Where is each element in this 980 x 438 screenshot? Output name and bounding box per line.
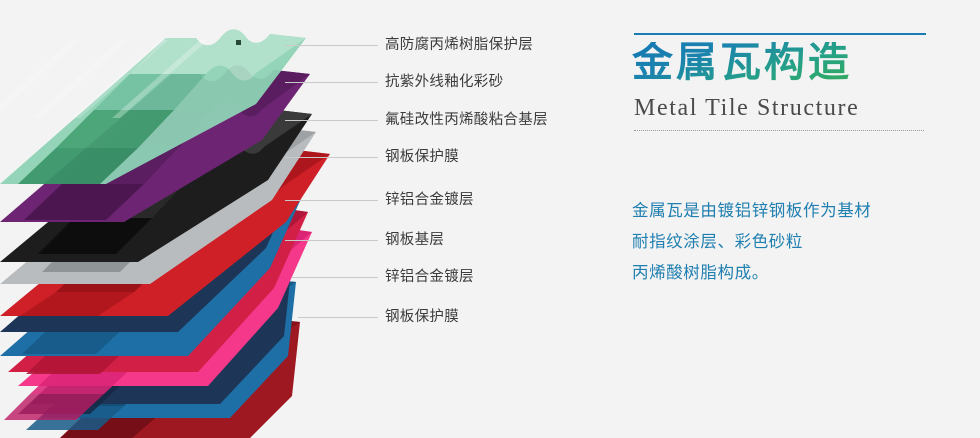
- leader-line-4: [285, 157, 378, 158]
- callout-label-1: 高防腐丙烯树脂保护层: [385, 38, 533, 53]
- description-paragraph: 金属瓦是由镀铝锌钢板作为基材 耐指纹涂层、彩色砂粒 丙烯酸树脂构成。: [632, 196, 962, 289]
- callout-label-3: 氟硅改性丙烯酸粘合基层: [385, 113, 548, 128]
- description-line-1: 金属瓦是由镀铝锌钢板作为基材: [632, 196, 962, 227]
- leader-line-1: [285, 45, 378, 46]
- metal-tile-illustration: [0, 0, 400, 438]
- callout-label-4: 钢板保护膜: [385, 150, 459, 165]
- tile-stack-svg: [0, 0, 400, 438]
- leader-line-3: [285, 120, 378, 121]
- title-dotted-rule: [634, 130, 924, 131]
- callout-label-2: 抗紫外线釉化彩砂: [385, 75, 503, 90]
- callout-label-5: 锌铝合金镀层: [385, 193, 474, 208]
- leader-line-8: [298, 317, 378, 318]
- title-top-rule: [634, 33, 926, 35]
- leader-line-2: [285, 82, 378, 83]
- page-title: 金属瓦构造: [632, 42, 852, 83]
- callout-label-6: 钢板基层: [385, 233, 444, 248]
- leader-line-5: [285, 200, 378, 201]
- description-line-2: 耐指纹涂层、彩色砂粒: [632, 227, 962, 258]
- text-panel: 金属瓦构造 Metal Tile Structure 金属瓦是由镀铝锌钢板作为基…: [632, 0, 962, 438]
- callout-label-7: 锌铝合金镀层: [385, 270, 474, 285]
- poster-canvas: 高防腐丙烯树脂保护层 抗紫外线釉化彩砂 氟硅改性丙烯酸粘合基层 钢板保护膜 锌铝…: [0, 0, 980, 438]
- leader-line-7: [292, 277, 378, 278]
- leader-line-6: [285, 240, 378, 241]
- callout-label-8: 钢板保护膜: [385, 310, 459, 325]
- description-line-3: 丙烯酸树脂构成。: [632, 258, 962, 289]
- page-subtitle: Metal Tile Structure: [634, 96, 859, 120]
